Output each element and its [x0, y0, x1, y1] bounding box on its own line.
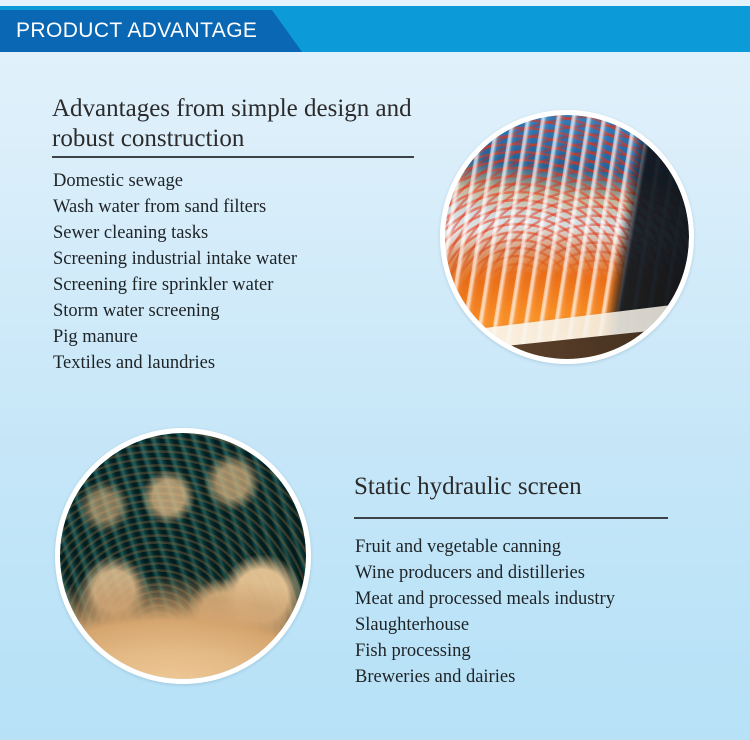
list-item: Fruit and vegetable canning — [355, 534, 615, 560]
page-title: PRODUCT ADVANTAGE — [16, 10, 257, 52]
photo-image — [60, 433, 306, 679]
list-item: Storm water screening — [53, 298, 297, 324]
section-static-divider — [354, 517, 668, 519]
photo-image — [445, 115, 689, 359]
list-item: Pig manure — [53, 324, 297, 350]
list-item: Screening industrial intake water — [53, 246, 297, 272]
hydraulic-screen-with-water-photo — [440, 110, 694, 364]
list-item: Slaughterhouse — [355, 612, 615, 638]
section-advantages-list: Domestic sewage Wash water from sand fil… — [53, 168, 297, 376]
list-item: Wash water from sand filters — [53, 194, 297, 220]
list-item: Fish processing — [355, 638, 615, 664]
page-header-banner: PRODUCT ADVANTAGE — [0, 6, 750, 52]
wedge-wire-screen-solids-photo — [55, 428, 311, 684]
list-item: Breweries and dairies — [355, 664, 615, 690]
section-advantages-title: Advantages from simple design and robust… — [52, 94, 432, 154]
list-item: Domestic sewage — [53, 168, 297, 194]
list-item: Screening fire sprinkler water — [53, 272, 297, 298]
section-static-title: Static hydraulic screen — [354, 472, 694, 502]
list-item: Textiles and laundries — [53, 350, 297, 376]
list-item: Meat and processed meals industry — [355, 586, 615, 612]
section-advantages-divider — [52, 156, 414, 158]
list-item: Sewer cleaning tasks — [53, 220, 297, 246]
product-advantage-page: PRODUCT ADVANTAGE Advantages from simple… — [0, 0, 750, 740]
list-item: Wine producers and distilleries — [355, 560, 615, 586]
section-static-list: Fruit and vegetable canning Wine produce… — [355, 534, 615, 690]
